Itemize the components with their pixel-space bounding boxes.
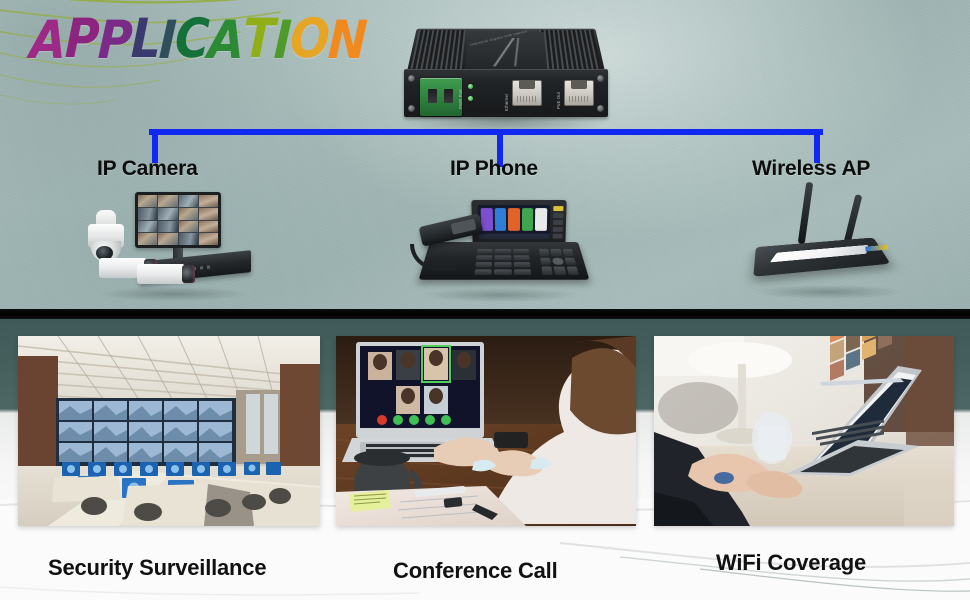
- antenna-icon: [798, 182, 814, 244]
- title-letter-3: L: [130, 12, 160, 66]
- artwork-shadow: [754, 285, 901, 299]
- phone-keypad: [475, 249, 532, 275]
- heatsink-fins-left: [409, 30, 465, 74]
- title-letter-1: P: [64, 12, 99, 66]
- ptz-dome-camera: [87, 210, 125, 262]
- title-letter-0: A: [29, 14, 66, 67]
- node-label-wireless-ap: Wireless AP: [752, 157, 870, 181]
- title-letter-6: A: [207, 14, 244, 67]
- port-label-power: PWR PoE: [458, 89, 463, 109]
- node-label-ip-camera: IP Camera: [97, 157, 198, 181]
- title-letter-9: O: [289, 12, 329, 66]
- wireless-ap-artwork: [740, 180, 915, 295]
- photo-security-surveillance: [18, 336, 320, 526]
- title-letter-2: P: [97, 14, 132, 67]
- port-label-poe-out: PoE Out: [556, 92, 561, 109]
- bullet-camera: [137, 264, 185, 284]
- phone-softkey-bar: [478, 234, 549, 239]
- screw-icon: [408, 75, 415, 82]
- caption-conference-call: Conference Call: [393, 558, 558, 584]
- artwork-shadow: [423, 288, 578, 302]
- port-label-ethernet: Ethernet: [504, 94, 509, 111]
- device-front-panel: PWR PoE Ethernet PoE Out: [404, 69, 608, 117]
- power-led-icon: [468, 84, 473, 89]
- title-letter-7: T: [242, 12, 274, 66]
- photo-conference-call: [336, 336, 636, 526]
- screw-icon: [408, 105, 415, 112]
- caption-wifi-coverage: WiFi Coverage: [716, 550, 866, 576]
- ip-phone-artwork: [408, 198, 593, 298]
- power-terminal-block: [420, 78, 462, 116]
- device-top-plate: Industrial Gigabit PoE Injector: [464, 32, 547, 72]
- photo-wifi-coverage: [654, 336, 954, 526]
- topology-diagram-panel: APPLICATION Industrial Gigabit PoE Injec…: [0, 0, 970, 311]
- rj45-port-poe-out: [564, 80, 594, 106]
- phone-display-shell: [471, 200, 566, 245]
- title-letter-8: I: [272, 14, 290, 67]
- caption-security-surveillance: Security Surveillance: [48, 555, 266, 581]
- ip-camera-artwork: [85, 192, 260, 297]
- phone-navigation-pad: [539, 249, 579, 275]
- artwork-shadow: [99, 287, 246, 301]
- screw-icon: [597, 75, 604, 82]
- router-body: [753, 238, 890, 277]
- screw-icon: [597, 105, 604, 112]
- section-divider: [0, 309, 970, 319]
- phone-cord: [410, 244, 456, 270]
- page-title: APPLICATION: [30, 17, 366, 64]
- phone-touchscreen: [478, 205, 551, 239]
- cctv-monitor: [135, 192, 221, 248]
- poe-injector-device: Industrial Gigabit PoE Injector PWR PoE …: [398, 12, 613, 132]
- heatsink-fins-right: [539, 30, 602, 74]
- rj45-port-ethernet: [512, 80, 542, 106]
- application-infographic: APPLICATION Industrial Gigabit PoE Injec…: [0, 0, 970, 600]
- router-accent-stripe: [770, 245, 868, 263]
- title-letter-10: N: [327, 14, 367, 67]
- poe-led-icon: [468, 96, 473, 101]
- phone-app-icons: [478, 205, 551, 234]
- node-label-ip-phone: IP Phone: [450, 157, 538, 181]
- title-letter-5: C: [174, 12, 209, 66]
- phone-line-keys: [553, 206, 564, 239]
- cctv-video-wall-grid: [138, 195, 218, 245]
